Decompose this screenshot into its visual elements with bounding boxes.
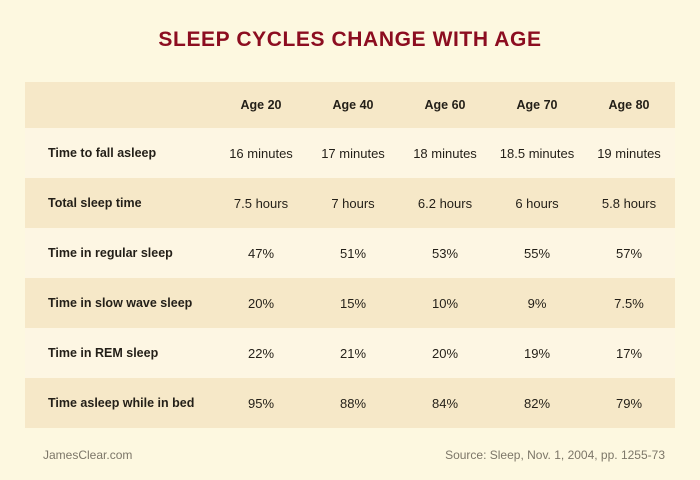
table-cell: 6.2 hours <box>399 178 491 228</box>
table-cell: 18 minutes <box>399 128 491 178</box>
footer-source: Source: Sleep, Nov. 1, 2004, pp. 1255-73 <box>445 448 665 462</box>
table-cell: 16 minutes <box>215 128 307 178</box>
footer: JamesClear.com Source: Sleep, Nov. 1, 20… <box>25 448 675 468</box>
column-header-metric <box>25 82 215 128</box>
table-cell: 57% <box>583 228 675 278</box>
table-header: Age 20 Age 40 Age 60 Age 70 Age 80 <box>25 82 675 128</box>
table-row: Time to fall asleep 16 minutes 17 minute… <box>25 128 675 178</box>
sleep-data-table-wrapper: Age 20 Age 40 Age 60 Age 70 Age 80 Time … <box>25 82 675 428</box>
table-cell: 51% <box>307 228 399 278</box>
column-header-age-40: Age 40 <box>307 82 399 128</box>
table-cell: 82% <box>491 378 583 428</box>
table-cell: 79% <box>583 378 675 428</box>
table-cell: 9% <box>491 278 583 328</box>
table-row: Time in regular sleep 47% 51% 53% 55% 57… <box>25 228 675 278</box>
table-cell: 17 minutes <box>307 128 399 178</box>
table-cell: 53% <box>399 228 491 278</box>
table-cell: 55% <box>491 228 583 278</box>
table-body: Time to fall asleep 16 minutes 17 minute… <box>25 128 675 428</box>
column-header-age-70: Age 70 <box>491 82 583 128</box>
table-cell: 7.5% <box>583 278 675 328</box>
table-cell: 84% <box>399 378 491 428</box>
table-cell: 10% <box>399 278 491 328</box>
table-cell: 47% <box>215 228 307 278</box>
row-label: Total sleep time <box>25 178 215 228</box>
table-cell: 17% <box>583 328 675 378</box>
column-header-age-80: Age 80 <box>583 82 675 128</box>
row-label: Time to fall asleep <box>25 128 215 178</box>
table-header-row: Age 20 Age 40 Age 60 Age 70 Age 80 <box>25 82 675 128</box>
table-cell: 19 minutes <box>583 128 675 178</box>
table-cell: 20% <box>215 278 307 328</box>
table-cell: 19% <box>491 328 583 378</box>
table-cell: 95% <box>215 378 307 428</box>
table-cell: 20% <box>399 328 491 378</box>
table-row: Total sleep time 7.5 hours 7 hours 6.2 h… <box>25 178 675 228</box>
row-label: Time asleep while in bed <box>25 378 215 428</box>
column-header-age-20: Age 20 <box>215 82 307 128</box>
table-row: Time asleep while in bed 95% 88% 84% 82%… <box>25 378 675 428</box>
infographic-page: Sleep Cycles Change With Age Age 20 Age … <box>0 0 700 480</box>
column-header-age-60: Age 60 <box>399 82 491 128</box>
table-cell: 6 hours <box>491 178 583 228</box>
row-label: Time in REM sleep <box>25 328 215 378</box>
table-row: Time in slow wave sleep 20% 15% 10% 9% 7… <box>25 278 675 328</box>
table-cell: 5.8 hours <box>583 178 675 228</box>
table-cell: 15% <box>307 278 399 328</box>
table-cell: 22% <box>215 328 307 378</box>
table-row: Time in REM sleep 22% 21% 20% 19% 17% <box>25 328 675 378</box>
row-label: Time in regular sleep <box>25 228 215 278</box>
footer-attribution: JamesClear.com <box>43 448 132 462</box>
table-cell: 7.5 hours <box>215 178 307 228</box>
table-cell: 18.5 minutes <box>491 128 583 178</box>
table-cell: 88% <box>307 378 399 428</box>
table-cell: 7 hours <box>307 178 399 228</box>
page-title: Sleep Cycles Change With Age <box>0 28 700 52</box>
row-label: Time in slow wave sleep <box>25 278 215 328</box>
sleep-data-table: Age 20 Age 40 Age 60 Age 70 Age 80 Time … <box>25 82 675 428</box>
table-cell: 21% <box>307 328 399 378</box>
